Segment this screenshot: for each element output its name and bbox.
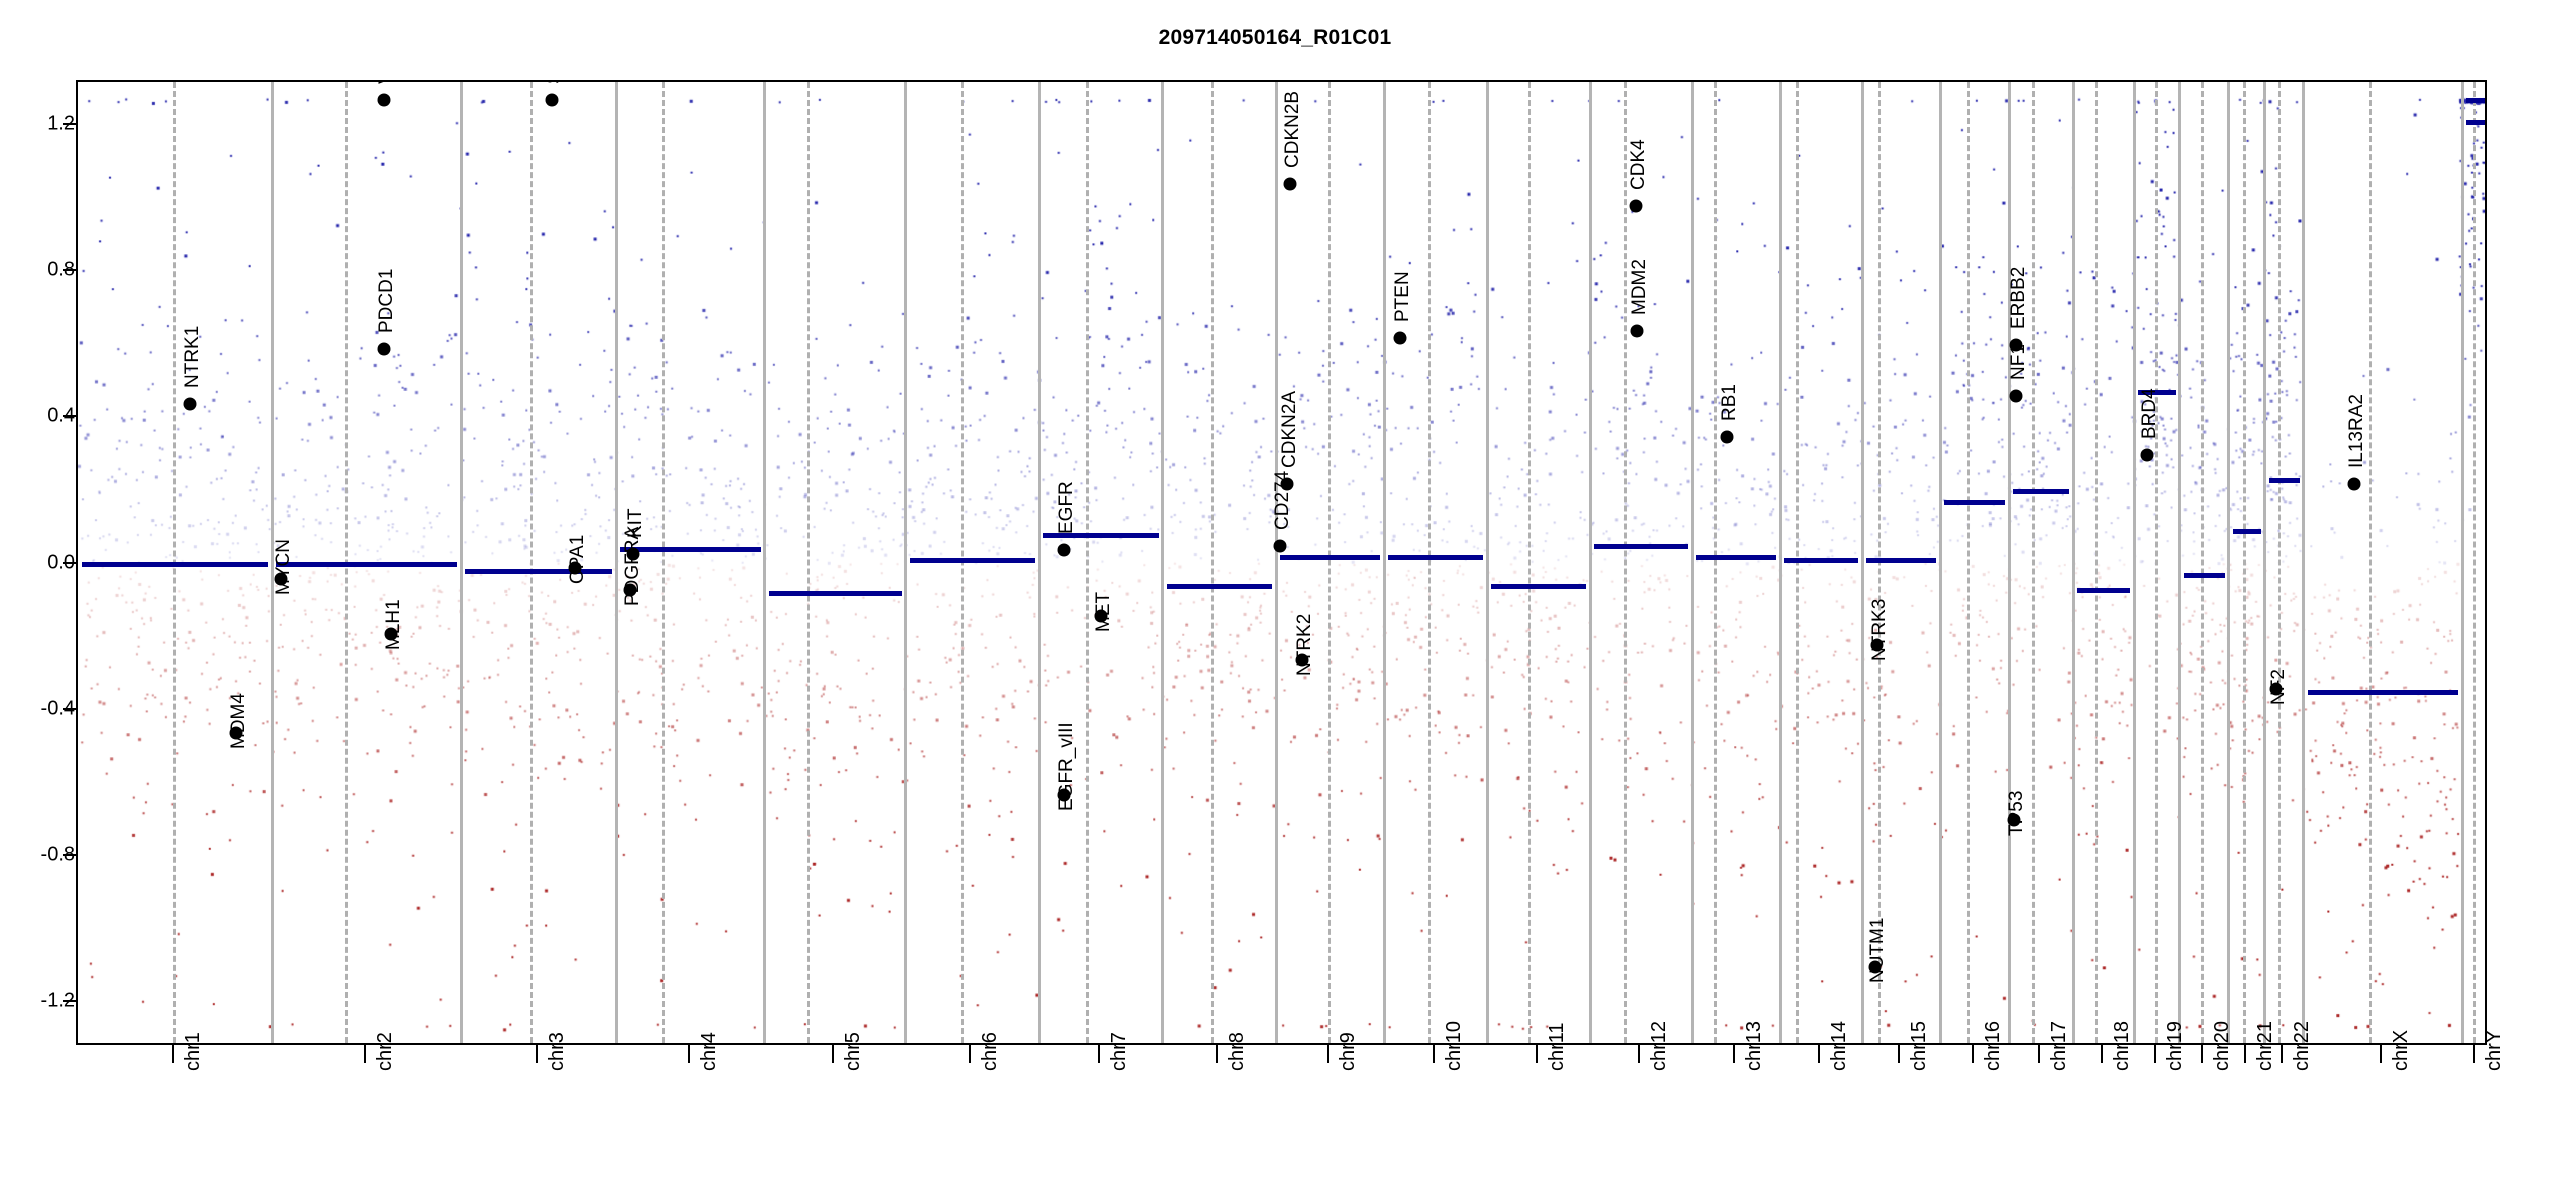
x-axis-tick-label: chr16	[1982, 1021, 2005, 1071]
x-axis-tick-mark	[2038, 1045, 2040, 1063]
x-axis-tick-label: chr10	[1443, 1021, 1466, 1071]
centromere-divider	[1714, 82, 1717, 1043]
gene-marker-dot	[378, 342, 391, 355]
chromosome-divider	[2302, 82, 2305, 1043]
plot-overlay: NTRK1MDM4MYCNPDCD1VHLMLH1SOX2OPA1PDGFRAK…	[78, 82, 2485, 1043]
gene-marker-dot	[2009, 390, 2022, 403]
centromere-divider	[662, 82, 665, 1043]
chromosome-divider	[460, 82, 463, 1043]
x-axis-tick-label: chrX	[2390, 1030, 2413, 1071]
gene-marker-dot	[1058, 543, 1071, 556]
gene-marker-dot	[274, 573, 287, 586]
x-axis-tick-mark	[1216, 1045, 1218, 1063]
gene-marker-dot	[385, 627, 398, 640]
x-axis-tick-label: chr17	[2048, 1021, 2071, 1071]
chromosome-divider	[2178, 82, 2181, 1043]
gene-marker-dot	[1058, 788, 1071, 801]
gene-label: IL13RA2	[2346, 394, 2368, 468]
chromosome-divider	[2008, 82, 2011, 1043]
chromosome-divider	[1691, 82, 1694, 1043]
y-axis-tick-mark	[63, 415, 76, 417]
x-axis-tick-label: chr14	[1828, 1021, 1851, 1071]
x-axis-tick-label: chr22	[2291, 1021, 2314, 1071]
segment-mean-line	[2466, 120, 2485, 125]
chromosome-divider	[1939, 82, 1942, 1043]
centromere-divider	[807, 82, 810, 1043]
gene-label: SOX2	[544, 80, 566, 84]
copy-number-plot-page: 209714050164_R01C01 1.20.80.40.0-0.4-0.8…	[0, 0, 2550, 1200]
centromere-divider	[1428, 82, 1431, 1043]
x-axis-tick-mark	[2101, 1045, 2103, 1063]
segment-mean-line	[2308, 690, 2459, 695]
segment-mean-line	[1696, 555, 1776, 560]
segment-mean-line	[82, 562, 268, 567]
x-axis-tick-label: chr13	[1743, 1021, 1766, 1071]
x-axis-tick-label: chr8	[1226, 1032, 1249, 1071]
gene-label: MET	[1093, 592, 1115, 632]
centromere-divider	[2095, 82, 2098, 1043]
chromosome-divider	[1161, 82, 1164, 1043]
gene-label: ERBB2	[2008, 267, 2030, 329]
gene-label: EGFR_vIII	[1056, 722, 1078, 811]
x-axis-tick-label: chr21	[2254, 1021, 2277, 1071]
gene-label: BRD4	[2139, 388, 2161, 439]
centromere-divider	[1528, 82, 1531, 1043]
centromere-divider	[1211, 82, 1214, 1043]
x-axis-tick-label: chr15	[1908, 1021, 1931, 1071]
gene-label: MLH1	[383, 599, 405, 650]
x-axis-tick-mark	[1327, 1045, 1329, 1063]
gene-marker-dot	[1095, 609, 1108, 622]
segment-mean-line	[2077, 588, 2130, 593]
x-axis-tick-mark	[1098, 1045, 1100, 1063]
y-axis-tick-mark	[63, 1000, 76, 1002]
chromosome-divider	[1383, 82, 1386, 1043]
x-axis-tick-mark	[2473, 1045, 2475, 1063]
x-axis-tick-mark	[536, 1045, 538, 1063]
x-axis-tick-mark	[1638, 1045, 1640, 1063]
centromere-divider	[2473, 82, 2476, 1043]
page-title: 209714050164_R01C01	[0, 26, 2550, 50]
chromosome-divider	[1038, 82, 1041, 1043]
chromosome-divider	[2072, 82, 2075, 1043]
gene-marker-dot	[1283, 178, 1296, 191]
gene-label: PDCD1	[376, 268, 398, 332]
chromosome-divider	[1486, 82, 1489, 1043]
segment-mean-line	[2013, 489, 2069, 494]
gene-marker-dot	[545, 94, 558, 107]
gene-marker-dot	[1394, 331, 1407, 344]
y-axis-tick-mark	[63, 854, 76, 856]
segment-mean-line	[2184, 573, 2225, 578]
x-axis-tick-label: chr12	[1648, 1021, 1671, 1071]
x-axis-tick-mark	[969, 1045, 971, 1063]
chromosome-divider	[1275, 82, 1278, 1043]
gene-label: NTRK2	[1294, 613, 1316, 675]
gene-marker-dot	[1630, 324, 1643, 337]
x-axis-tick-label: chr3	[546, 1032, 569, 1071]
gene-marker-dot	[2347, 478, 2360, 491]
y-axis-tick-mark	[63, 269, 76, 271]
x-axis-tick-mark	[364, 1045, 366, 1063]
segment-mean-line	[1043, 533, 1159, 538]
chromosome-divider	[2133, 82, 2136, 1043]
centromere-divider	[2155, 82, 2158, 1043]
x-axis-tick-label: chr5	[842, 1032, 865, 1071]
y-axis-tick-mark	[63, 708, 76, 710]
plot-area: NTRK1MDM4MYCNPDCD1VHLMLH1SOX2OPA1PDGFRAK…	[76, 80, 2487, 1045]
x-axis-tick-mark	[172, 1045, 174, 1063]
x-axis-tick-label: chr4	[698, 1032, 721, 1071]
segment-mean-line	[1944, 500, 2005, 505]
segment-mean-line	[1167, 584, 1272, 589]
x-axis-tick-mark	[1898, 1045, 1900, 1063]
segment-mean-line	[1491, 584, 1586, 589]
x-axis-tick-mark	[2244, 1045, 2246, 1063]
centromere-divider	[1967, 82, 1970, 1043]
gene-label: MDM2	[1629, 259, 1651, 315]
x-axis-tick-mark	[832, 1045, 834, 1063]
centromere-divider	[2201, 82, 2204, 1043]
x-axis-tick-mark	[1972, 1045, 1974, 1063]
x-axis-tick-mark	[1733, 1045, 1735, 1063]
gene-label: CDK4	[1628, 140, 1650, 191]
gene-label: OPA1	[567, 535, 589, 584]
segment-mean-line	[620, 547, 761, 552]
x-axis-tick-mark	[688, 1045, 690, 1063]
x-axis-tick-label: chrY	[2483, 1030, 2506, 1071]
gene-marker-dot	[2010, 339, 2023, 352]
centromere-divider	[1624, 82, 1627, 1043]
chromosome-divider	[1589, 82, 1592, 1043]
gene-marker-dot	[1295, 653, 1308, 666]
x-axis-tick-label: chr11	[1546, 1022, 1569, 1071]
gene-marker-dot	[1629, 200, 1642, 213]
centromere-divider	[1086, 82, 1089, 1043]
gene-marker-dot	[624, 584, 637, 597]
x-axis-tick-label: chr2	[374, 1032, 397, 1071]
x-axis-tick-mark	[1818, 1045, 1820, 1063]
gene-label: VHL	[376, 80, 398, 84]
chromosome-divider	[2461, 82, 2464, 1043]
gene-marker-dot	[378, 94, 391, 107]
segment-mean-line	[1866, 558, 1936, 563]
gene-label: PTEN	[1392, 271, 1414, 322]
segment-mean-line	[1784, 558, 1858, 563]
centromere-divider	[1328, 82, 1331, 1043]
gene-label: EGFR	[1056, 481, 1078, 534]
segment-mean-line	[276, 562, 457, 567]
chromosome-divider	[271, 82, 274, 1043]
chromosome-divider	[2227, 82, 2230, 1043]
x-axis-tick-mark	[2154, 1045, 2156, 1063]
gene-marker-dot	[1281, 478, 1294, 491]
chromosome-divider	[2263, 82, 2266, 1043]
gene-label: CDKN2B	[1282, 91, 1304, 168]
gene-marker-dot	[2141, 448, 2154, 461]
gene-marker-dot	[1721, 430, 1734, 443]
x-axis-tick-label: chr6	[979, 1032, 1002, 1071]
centromere-divider	[2278, 82, 2281, 1043]
segment-mean-line	[910, 558, 1035, 563]
x-axis-tick-mark	[1433, 1045, 1435, 1063]
segment-mean-line	[2466, 98, 2485, 103]
segment-mean-line	[465, 569, 612, 574]
gene-label: MDM4	[228, 693, 250, 749]
x-axis-tick-label: chr20	[2211, 1021, 2234, 1071]
x-axis-tick-label: chr9	[1337, 1032, 1360, 1071]
gene-label: NF1	[2008, 344, 2030, 380]
segment-mean-line	[1280, 555, 1380, 560]
chromosome-divider	[1779, 82, 1782, 1043]
y-axis-tick-mark	[63, 562, 76, 564]
gene-label: KIT	[625, 508, 647, 538]
gene-label: RB1	[1719, 384, 1741, 421]
x-axis-tick-mark	[2281, 1045, 2283, 1063]
segment-mean-line	[769, 591, 902, 596]
x-axis-tick-mark	[2380, 1045, 2382, 1063]
segment-mean-line	[2233, 529, 2261, 534]
segment-mean-line	[2269, 478, 2300, 483]
chromosome-divider	[615, 82, 618, 1043]
x-axis-tick-label: chr19	[2164, 1021, 2187, 1071]
chromosome-divider	[763, 82, 766, 1043]
gene-label: NTRK1	[182, 325, 204, 387]
chromosome-divider	[904, 82, 907, 1043]
gene-label: CDKN2A	[1279, 391, 1301, 468]
segment-mean-line	[1594, 544, 1688, 549]
y-axis-tick-mark	[63, 123, 76, 125]
gene-label: MYCN	[273, 539, 295, 595]
centromere-divider	[2369, 82, 2372, 1043]
gene-marker-dot	[184, 397, 197, 410]
gene-marker-dot	[229, 726, 242, 739]
x-axis-tick-mark	[2201, 1045, 2203, 1063]
segment-mean-line	[2138, 390, 2176, 395]
x-axis-tick-label: chr18	[2111, 1021, 2134, 1071]
x-axis-tick-mark	[1536, 1045, 1538, 1063]
centromere-divider	[2243, 82, 2246, 1043]
x-axis-tick-label: chr1	[182, 1032, 205, 1071]
segment-mean-line	[1388, 555, 1483, 560]
centromere-divider	[2032, 82, 2035, 1043]
chromosome-divider	[1861, 82, 1864, 1043]
gene-label: PDGFRA	[622, 527, 644, 606]
x-axis-tick-label: chr7	[1108, 1032, 1131, 1071]
centromere-divider	[530, 82, 533, 1043]
